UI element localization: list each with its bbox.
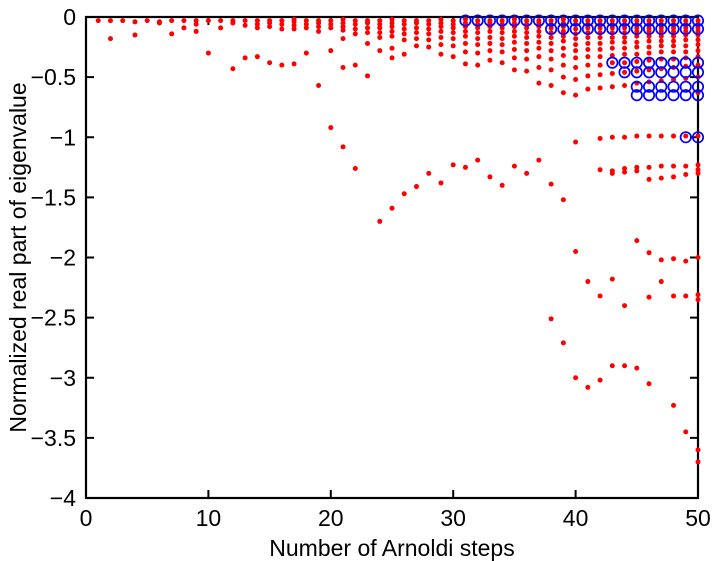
- y-tick-label: −1.5: [31, 184, 76, 210]
- data-point-eigenvalue: [512, 67, 517, 72]
- data-point-eigenvalue: [414, 25, 419, 30]
- y-tick-label: −2: [50, 245, 76, 271]
- data-point-eigenvalue: [659, 43, 664, 48]
- data-point-eigenvalue: [647, 39, 652, 44]
- data-point-eigenvalue: [169, 31, 174, 36]
- data-point-eigenvalue: [696, 255, 701, 260]
- data-point-eigenvalue: [573, 77, 578, 82]
- data-point-eigenvalue: [426, 27, 431, 32]
- data-point-eigenvalue: [255, 54, 260, 59]
- data-point-eigenvalue: [549, 67, 554, 72]
- data-point-eigenvalue: [292, 27, 297, 32]
- data-point-eigenvalue: [377, 30, 382, 35]
- data-point-eigenvalue: [390, 24, 395, 29]
- data-point-eigenvalue: [610, 40, 615, 45]
- data-point-eigenvalue: [475, 30, 480, 35]
- data-point-eigenvalue: [671, 293, 676, 298]
- data-point-eigenvalue: [634, 366, 639, 371]
- data-point-eigenvalue: [390, 34, 395, 39]
- data-point-eigenvalue: [353, 27, 358, 32]
- data-point-eigenvalue: [683, 164, 688, 169]
- data-point-eigenvalue: [426, 22, 431, 27]
- data-point-eigenvalue: [512, 164, 517, 169]
- data-point-eigenvalue: [328, 48, 333, 53]
- data-point-eigenvalue: [659, 257, 664, 262]
- data-point-eigenvalue: [341, 28, 346, 33]
- data-point-eigenvalue: [659, 279, 664, 284]
- data-point-eigenvalue: [132, 19, 137, 24]
- data-point-eigenvalue: [549, 35, 554, 40]
- data-point-eigenvalue: [585, 54, 590, 59]
- data-point-eigenvalue: [487, 174, 492, 179]
- scatter-plot: 010203040500−0.5−1−1.5−2−2.5−3−3.5−4 Num…: [0, 0, 714, 561]
- y-tick-label: −3: [50, 365, 76, 391]
- data-point-eigenvalue: [671, 134, 676, 139]
- data-point-eigenvalue: [622, 52, 627, 57]
- data-point-eigenvalue: [696, 134, 701, 139]
- data-point-eigenvalue: [561, 46, 566, 51]
- data-point-eigenvalue: [634, 168, 639, 173]
- data-point-eigenvalue: [463, 165, 468, 170]
- data-point-eigenvalue: [500, 49, 505, 54]
- data-point-eigenvalue: [438, 180, 443, 185]
- data-point-eigenvalue: [96, 18, 101, 23]
- data-point-eigenvalue: [487, 41, 492, 46]
- data-point-eigenvalue: [598, 378, 603, 383]
- data-point-eigenvalue: [487, 48, 492, 53]
- data-point-eigenvalue: [536, 40, 541, 45]
- data-point-eigenvalue: [647, 177, 652, 182]
- data-point-eigenvalue: [610, 171, 615, 176]
- data-point-eigenvalue: [634, 59, 639, 64]
- data-point-eigenvalue: [108, 36, 113, 41]
- data-point-eigenvalue: [696, 37, 701, 42]
- data-point-eigenvalue: [536, 65, 541, 70]
- data-point-eigenvalue: [585, 47, 590, 52]
- data-point-eigenvalue: [341, 65, 346, 70]
- data-point-eigenvalue: [304, 51, 309, 56]
- data-point-eigenvalue: [500, 183, 505, 188]
- data-point-eigenvalue: [561, 340, 566, 345]
- data-point-eigenvalue: [683, 429, 688, 434]
- data-point-eigenvalue: [622, 170, 627, 175]
- data-point-eigenvalue: [585, 35, 590, 40]
- data-point-eigenvalue: [573, 249, 578, 254]
- data-point-eigenvalue: [696, 297, 701, 302]
- data-point-eigenvalue: [671, 49, 676, 54]
- data-point-eigenvalue: [647, 134, 652, 139]
- data-point-eigenvalue: [230, 21, 235, 26]
- data-point-eigenvalue: [120, 18, 125, 23]
- data-point-eigenvalue: [279, 27, 284, 32]
- y-axis-title: Normalized real part of eigenvalue: [5, 82, 31, 432]
- data-point-eigenvalue: [610, 277, 615, 282]
- data-point-eigenvalue: [267, 60, 272, 65]
- data-point-eigenvalue: [475, 42, 480, 47]
- data-point-eigenvalue: [696, 447, 701, 452]
- data-point-eigenvalue: [500, 30, 505, 35]
- data-point-eigenvalue: [659, 176, 664, 181]
- data-point-eigenvalue: [598, 136, 603, 141]
- data-point-eigenvalue: [696, 48, 701, 53]
- data-point-eigenvalue: [622, 35, 627, 40]
- data-point-eigenvalue: [341, 144, 346, 149]
- data-point-eigenvalue: [549, 48, 554, 53]
- data-point-eigenvalue: [524, 41, 529, 46]
- data-point-eigenvalue: [573, 55, 578, 60]
- data-point-eigenvalue: [524, 30, 529, 35]
- data-point-eigenvalue: [573, 375, 578, 380]
- data-point-eigenvalue: [671, 403, 676, 408]
- data-point-eigenvalue: [353, 22, 358, 27]
- data-point-eigenvalue: [573, 140, 578, 145]
- data-point-eigenvalue: [610, 46, 615, 51]
- data-point-eigenvalue: [157, 21, 162, 26]
- data-point-eigenvalue: [451, 25, 456, 30]
- data-point-eigenvalue: [328, 25, 333, 30]
- data-point-eigenvalue: [573, 65, 578, 70]
- data-point-eigenvalue: [561, 90, 566, 95]
- data-point-eigenvalue: [402, 31, 407, 36]
- data-point-eigenvalue: [634, 45, 639, 50]
- data-point-eigenvalue: [524, 69, 529, 74]
- data-point-eigenvalue: [500, 42, 505, 47]
- data-point-eigenvalue: [512, 40, 517, 45]
- data-point-eigenvalue: [561, 39, 566, 44]
- data-point-eigenvalue: [598, 35, 603, 40]
- data-point-eigenvalue: [549, 316, 554, 321]
- data-point-eigenvalue: [487, 58, 492, 63]
- data-point-eigenvalue: [402, 191, 407, 196]
- data-point-eigenvalue: [487, 29, 492, 34]
- data-point-eigenvalue: [659, 134, 664, 139]
- data-point-eigenvalue: [573, 42, 578, 47]
- data-point-eigenvalue: [647, 165, 652, 170]
- x-tick-label: 50: [685, 505, 711, 531]
- data-point-eigenvalue: [696, 42, 701, 47]
- data-point-eigenvalue: [524, 35, 529, 40]
- data-point-eigenvalue: [536, 29, 541, 34]
- figure-container: 010203040500−0.5−1−1.5−2−2.5−3−3.5−4 Num…: [0, 0, 714, 561]
- data-point-eigenvalue: [475, 51, 480, 56]
- data-point-eigenvalue: [390, 206, 395, 211]
- data-point-eigenvalue: [145, 18, 150, 23]
- data-point-eigenvalue: [585, 73, 590, 78]
- data-point-eigenvalue: [218, 25, 223, 30]
- data-point-eigenvalue: [610, 84, 615, 89]
- data-point-eigenvalue: [536, 54, 541, 59]
- data-point-eigenvalue: [255, 25, 260, 30]
- data-point-eigenvalue: [402, 37, 407, 42]
- data-point-eigenvalue: [500, 36, 505, 41]
- data-point-eigenvalue: [659, 49, 664, 54]
- data-point-eigenvalue: [414, 21, 419, 26]
- data-point-eigenvalue: [524, 48, 529, 53]
- data-point-eigenvalue: [598, 85, 603, 90]
- data-point-eigenvalue: [365, 41, 370, 46]
- data-point-eigenvalue: [634, 134, 639, 139]
- data-point-eigenvalue: [377, 48, 382, 53]
- data-point-eigenvalue: [671, 174, 676, 179]
- data-point-eigenvalue: [341, 36, 346, 41]
- axis-labels: Number of Arnoldi stepsNormalized real p…: [5, 82, 515, 561]
- data-point-eigenvalue: [426, 37, 431, 42]
- data-point-eigenvalue: [438, 42, 443, 47]
- data-point-eigenvalue: [585, 63, 590, 68]
- data-point-eigenvalue: [622, 70, 627, 75]
- data-point-eigenvalue: [463, 61, 468, 66]
- data-point-eigenvalue: [377, 35, 382, 40]
- data-point-eigenvalue: [561, 75, 566, 80]
- data-point-eigenvalue: [683, 259, 688, 264]
- data-point-eigenvalue: [243, 18, 248, 23]
- data-point-eigenvalue: [414, 30, 419, 35]
- data-point-eigenvalue: [463, 29, 468, 34]
- data-point-eigenvalue: [108, 18, 113, 23]
- data-point-eigenvalue: [683, 134, 688, 139]
- axes: 010203040500−0.5−1−1.5−2−2.5−3−3.5−4: [31, 4, 711, 531]
- data-point-eigenvalue: [585, 385, 590, 390]
- x-tick-label: 40: [563, 505, 589, 531]
- data-point-eigenvalue: [463, 41, 468, 46]
- y-tick-label: −0.5: [31, 64, 76, 90]
- data-point-eigenvalue: [353, 63, 358, 68]
- data-point-eigenvalue: [622, 40, 627, 45]
- x-tick-label: 20: [318, 505, 344, 531]
- data-point-eigenvalue: [647, 51, 652, 56]
- data-point-eigenvalue: [316, 29, 321, 34]
- data-point-eigenvalue: [610, 71, 615, 76]
- y-tick-label: −1: [50, 124, 76, 150]
- data-point-eigenvalue: [390, 55, 395, 60]
- data-point-eigenvalue: [561, 63, 566, 68]
- data-point-eigenvalue: [549, 182, 554, 187]
- data-point-eigenvalue: [585, 87, 590, 92]
- data-point-eigenvalue: [549, 57, 554, 62]
- data-point-eigenvalue: [536, 158, 541, 163]
- data-point-eigenvalue: [451, 54, 456, 59]
- data-point-eigenvalue: [426, 45, 431, 50]
- data-point-eigenvalue: [206, 18, 211, 23]
- data-point-eigenvalue: [671, 43, 676, 48]
- data-point-eigenvalue: [206, 51, 211, 56]
- data-point-eigenvalue: [549, 83, 554, 88]
- data-point-eigenvalue: [316, 83, 321, 88]
- data-point-eigenvalue: [487, 35, 492, 40]
- data-point-eigenvalue: [475, 36, 480, 41]
- data-point-eigenvalue: [328, 125, 333, 130]
- data-point-eigenvalue: [610, 363, 615, 368]
- data-point-eigenvalue: [683, 293, 688, 298]
- data-point-eigenvalue: [279, 22, 284, 27]
- data-point-eigenvalue: [634, 40, 639, 45]
- data-point-eigenvalue: [683, 37, 688, 42]
- data-point-eigenvalue: [243, 23, 248, 28]
- data-point-eigenvalue: [390, 29, 395, 34]
- data-point-eigenvalue: [536, 46, 541, 51]
- data-point-eigenvalue: [524, 171, 529, 176]
- data-point-eigenvalue: [561, 53, 566, 58]
- data-point-eigenvalue: [426, 171, 431, 176]
- plot-box: [86, 17, 698, 498]
- data-point-eigenvalue: [463, 34, 468, 39]
- data-point-eigenvalue: [181, 25, 186, 30]
- data-point-eigenvalue: [573, 93, 578, 98]
- data-point-eigenvalue: [451, 162, 456, 167]
- y-tick-label: −2.5: [31, 305, 76, 331]
- x-tick-label: 10: [196, 505, 222, 531]
- data-point-eigenvalue: [561, 197, 566, 202]
- data-point-eigenvalue: [451, 43, 456, 48]
- data-point-eigenvalue: [402, 22, 407, 27]
- data-point-eigenvalue: [622, 60, 627, 65]
- data-point-eigenvalue: [451, 36, 456, 41]
- data-point-eigenvalue: [585, 41, 590, 46]
- data-point-eigenvalue: [463, 49, 468, 54]
- data-point-eigenvalue: [696, 292, 701, 297]
- data-point-eigenvalue: [696, 162, 701, 167]
- data-point-eigenvalue: [353, 31, 358, 36]
- data-point-eigenvalue: [598, 47, 603, 52]
- data-point-eigenvalue: [622, 303, 627, 308]
- data-point-eigenvalue: [414, 43, 419, 48]
- data-point-eigenvalue: [634, 69, 639, 74]
- y-tick-label: −3.5: [31, 425, 76, 451]
- data-point-eigenvalue: [659, 39, 664, 44]
- data-point-eigenvalue: [194, 29, 199, 34]
- data-point-eigenvalue: [696, 171, 701, 176]
- data-point-eigenvalue: [438, 35, 443, 40]
- data-point-eigenvalue: [512, 55, 517, 60]
- data-point-eigenvalue: [181, 18, 186, 23]
- data-point-eigenvalue: [230, 66, 235, 71]
- data-point-eigenvalue: [132, 33, 137, 38]
- data-point-eigenvalue: [438, 52, 443, 57]
- data-point-eigenvalue: [353, 166, 358, 171]
- data-point-eigenvalue: [683, 49, 688, 54]
- y-tick-label: 0: [63, 4, 76, 30]
- data-point-eigenvalue: [414, 184, 419, 189]
- data-point-eigenvalue: [377, 25, 382, 30]
- data-point-eigenvalue: [365, 30, 370, 35]
- data-point-eigenvalue: [549, 41, 554, 46]
- data-point-eigenvalue: [512, 47, 517, 52]
- data-point-eigenvalue: [598, 54, 603, 59]
- data-point-eigenvalue: [438, 24, 443, 29]
- data-point-eigenvalue: [598, 293, 603, 298]
- data-point-eigenvalue: [610, 35, 615, 40]
- data-point-eigenvalue: [524, 57, 529, 62]
- data-point-eigenvalue: [377, 219, 382, 224]
- data-point-eigenvalue: [292, 61, 297, 66]
- data-point-eigenvalue: [279, 63, 284, 68]
- data-point-eigenvalue: [402, 27, 407, 32]
- data-point-eigenvalue: [267, 24, 272, 29]
- data-point-eigenvalue: [573, 48, 578, 53]
- data-point-eigenvalue: [451, 30, 456, 35]
- data-point-eigenvalue: [622, 135, 627, 140]
- data-point-eigenvalue: [647, 45, 652, 50]
- data-point-eigenvalue: [683, 43, 688, 48]
- data-point-eigenvalue: [585, 279, 590, 284]
- data-point-eigenvalue: [647, 250, 652, 255]
- data-point-eigenvalue: [438, 29, 443, 34]
- data-point-eigenvalue: [634, 238, 639, 243]
- data-point-eigenvalue: [647, 381, 652, 386]
- data-point-eigenvalue: [696, 459, 701, 464]
- data-point-eigenvalue: [671, 39, 676, 44]
- data-point-eigenvalue: [671, 256, 676, 261]
- x-tick-label: 30: [440, 505, 466, 531]
- data-point-eigenvalue: [475, 158, 480, 163]
- data-layer: [96, 15, 703, 464]
- data-point-eigenvalue: [365, 73, 370, 78]
- y-tick-label: −4: [50, 485, 76, 511]
- data-point-eigenvalue: [610, 135, 615, 140]
- data-point-eigenvalue: [610, 60, 615, 65]
- data-point-eigenvalue: [169, 18, 174, 23]
- data-point-eigenvalue: [622, 46, 627, 51]
- data-point-eigenvalue: [683, 172, 688, 177]
- data-point-eigenvalue: [500, 60, 505, 65]
- data-point-eigenvalue: [243, 55, 248, 60]
- data-point-eigenvalue: [671, 164, 676, 169]
- data-point-eigenvalue: [365, 21, 370, 26]
- data-point-eigenvalue: [218, 18, 223, 23]
- data-point-eigenvalue: [598, 72, 603, 77]
- data-point-eigenvalue: [622, 363, 627, 368]
- data-point-eigenvalue: [647, 295, 652, 300]
- data-point-eigenvalue: [659, 164, 664, 169]
- data-point-eigenvalue: [365, 25, 370, 30]
- data-point-eigenvalue: [304, 25, 309, 30]
- data-point-eigenvalue: [414, 36, 419, 41]
- data-point-eigenvalue: [622, 83, 627, 88]
- data-point-eigenvalue: [475, 63, 480, 68]
- data-point-eigenvalue: [536, 34, 541, 39]
- data-point-eigenvalue: [194, 22, 199, 27]
- data-point-eigenvalue: [598, 167, 603, 172]
- data-point-eigenvalue: [402, 52, 407, 57]
- data-point-eigenvalue: [573, 36, 578, 41]
- data-point-eigenvalue: [426, 31, 431, 36]
- data-point-eigenvalue: [390, 46, 395, 51]
- data-point-eigenvalue: [598, 63, 603, 68]
- data-point-eigenvalue: [634, 52, 639, 57]
- x-axis-title: Number of Arnoldi steps: [269, 535, 514, 561]
- data-point-eigenvalue: [536, 81, 541, 86]
- data-point-eigenvalue: [316, 24, 321, 29]
- data-point-eigenvalue: [573, 27, 578, 32]
- x-tick-label: 0: [80, 505, 93, 531]
- data-point-eigenvalue: [598, 41, 603, 46]
- data-point-eigenvalue: [512, 29, 517, 34]
- data-point-eigenvalue: [512, 34, 517, 39]
